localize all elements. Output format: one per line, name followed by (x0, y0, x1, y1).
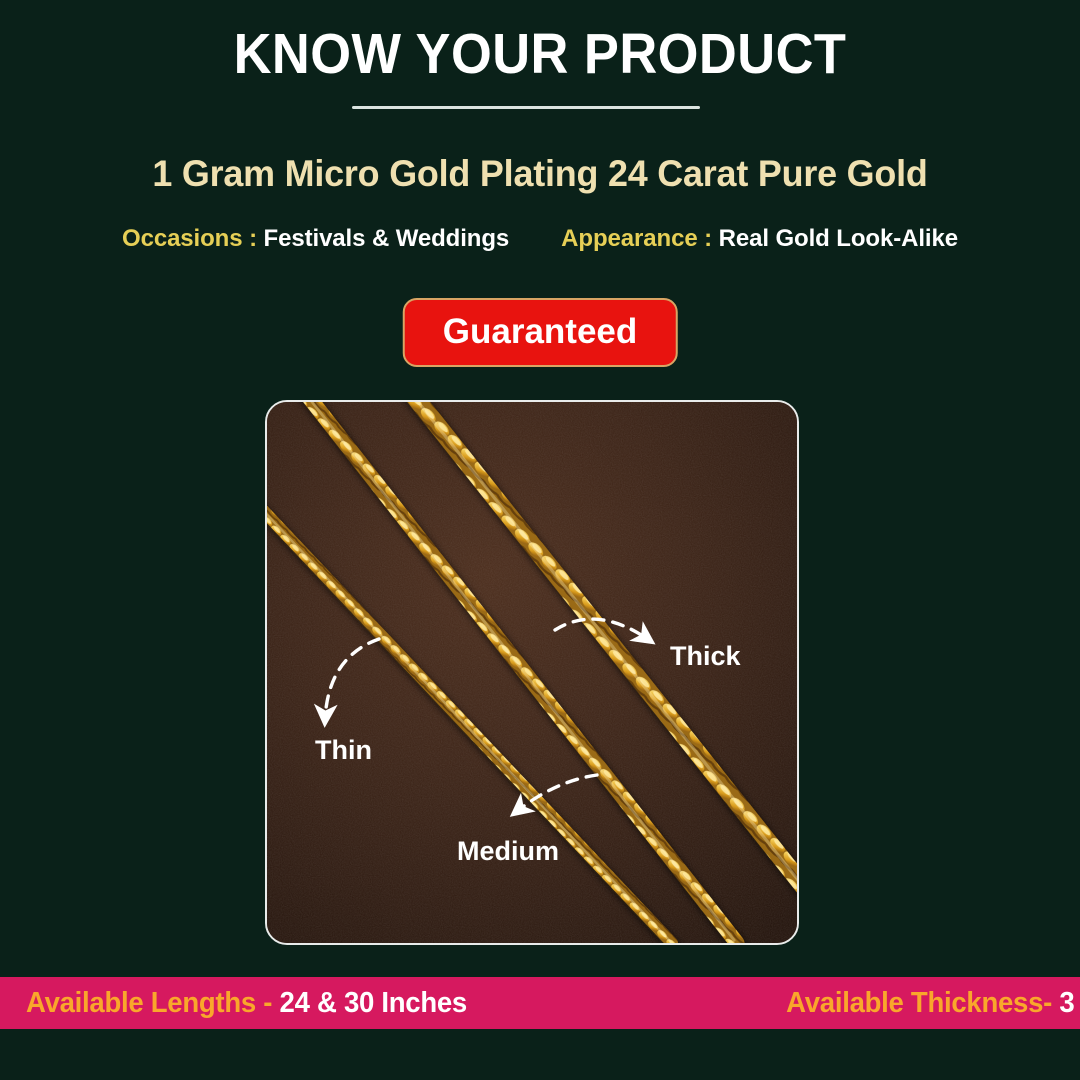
banner-lengths: Available Lengths - 24 & 30 Inches (26, 987, 467, 1020)
banner-thickness-label: Available Thickness- (786, 987, 1052, 1019)
banner-lengths-value: 24 & 30 Inches (280, 987, 467, 1019)
banner-thickness: Available Thickness- 3 (786, 987, 1074, 1020)
page-title: KNOW YOUR PRODUCT (43, 22, 1037, 88)
banner-lengths-label: Available Lengths - (26, 987, 272, 1019)
bottom-banner: Available Lengths - 24 & 30 Inches Avail… (0, 977, 1080, 1029)
guaranteed-badge: Guaranteed (403, 298, 678, 367)
annotation-thick-label: Thick (670, 641, 742, 671)
product-photo-canvas: Thick Thin Medium (267, 402, 797, 943)
spec-appearance: Appearance : Real Gold Look-Alike (561, 225, 958, 253)
annotation-thin-label: Thin (315, 735, 372, 765)
spec-row: Occasions : Festivals & Weddings Appeara… (0, 225, 1080, 253)
annotation-medium-label: Medium (457, 836, 559, 866)
spec-occasions-value: Festivals & Weddings (264, 225, 510, 252)
spec-occasions-label: Occasions : (122, 225, 257, 252)
banner-thickness-value: 3 (1059, 987, 1074, 1019)
title-divider (352, 106, 700, 109)
spec-appearance-value: Real Gold Look-Alike (719, 225, 958, 252)
product-photo: Thick Thin Medium (265, 400, 799, 945)
product-subtitle: 1 Gram Micro Gold Plating 24 Carat Pure … (16, 153, 1064, 195)
spec-occasions: Occasions : Festivals & Weddings (122, 225, 509, 253)
spec-appearance-label: Appearance : (561, 225, 712, 252)
product-infographic: KNOW YOUR PRODUCT 1 Gram Micro Gold Plat… (0, 0, 1080, 1080)
guaranteed-badge-label: Guaranteed (443, 314, 638, 349)
